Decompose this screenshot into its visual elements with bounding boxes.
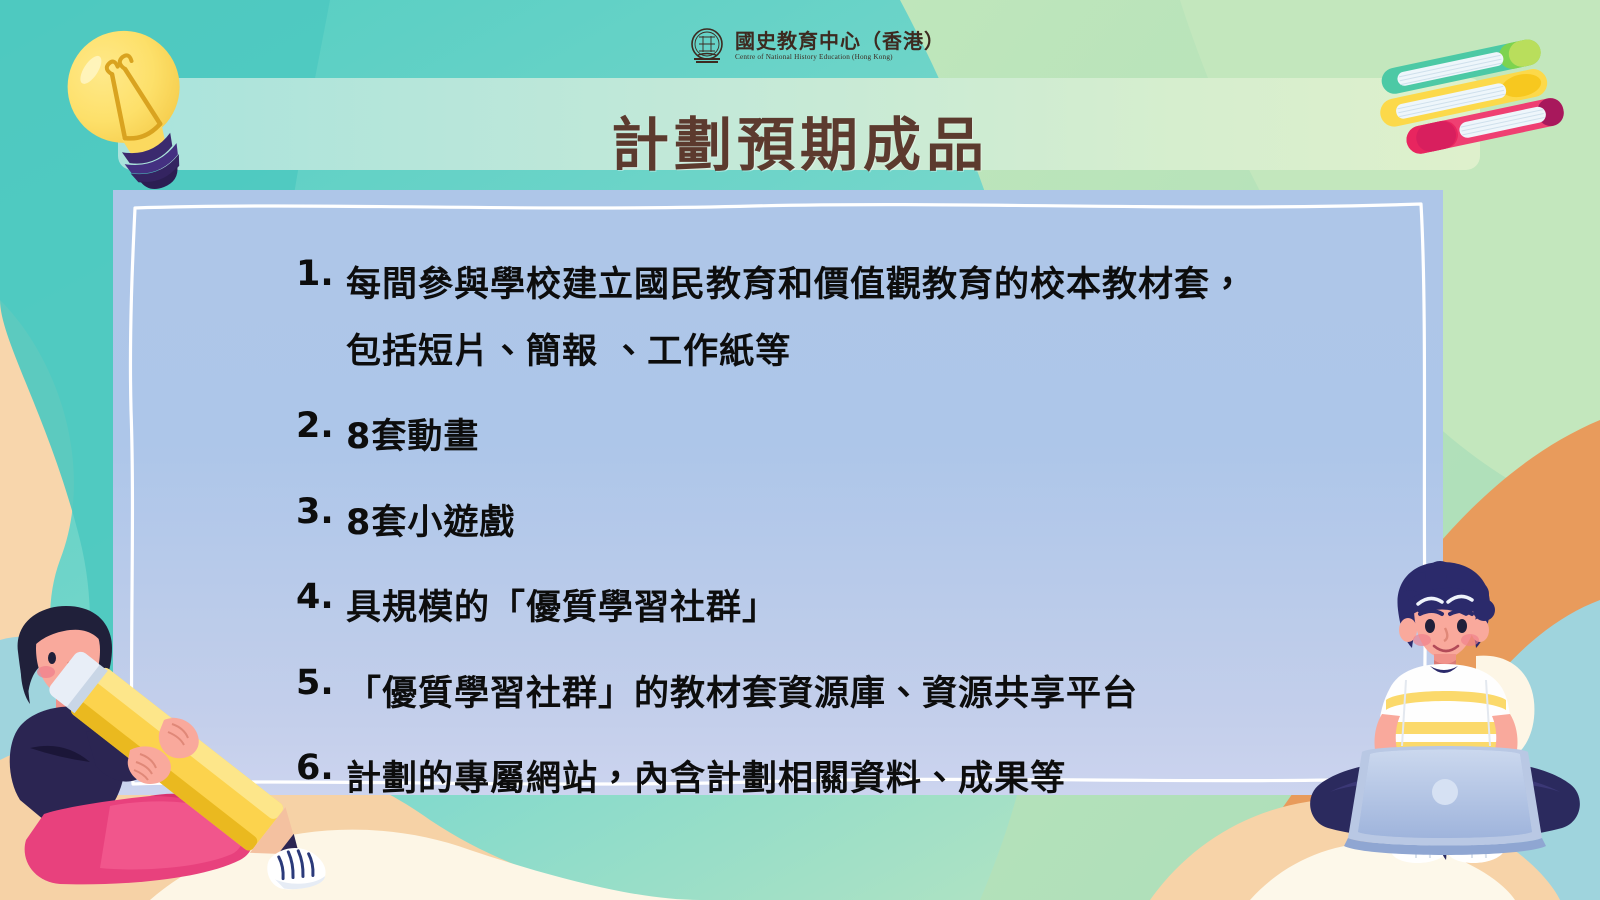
list-item-number: 2.: [296, 404, 346, 449]
boy-with-laptop-illustration: [1290, 548, 1600, 900]
list-item-text: 8套小遊戲: [346, 490, 515, 557]
list-item-text: 8套動畫: [346, 404, 479, 471]
list-item: 4. 具規模的「優質學習社群」: [296, 575, 1396, 642]
girl-with-pencil-illustration: [0, 600, 330, 900]
list-item-line2: 包括短片、簡報 、工作紙等: [346, 319, 1246, 386]
slide-root: 計劃預期成品 國史教育中心（香港） Centre of National His…: [0, 0, 1600, 900]
list-item-line1: 8套動畫: [346, 417, 479, 457]
list-item-number: 3.: [296, 490, 346, 535]
list-item: 6. 計劃的專屬網站，內含計劃相關資料、成果等: [296, 746, 1396, 813]
seal-logo-icon: [686, 25, 728, 67]
list-item-text: 具規模的「優質學習社群」: [346, 575, 778, 642]
logo-name-en: Centre of National History Education (Ho…: [735, 54, 945, 61]
outcomes-list: 1. 每間參與學校建立國民教育和價值觀教育的校本教材套， 包括短片、簡報 、工作…: [296, 252, 1396, 832]
list-item: 2. 8套動畫: [296, 404, 1396, 471]
logo-name-cn: 國史教育中心（香港）: [735, 31, 945, 51]
list-item-number: 1.: [296, 252, 346, 297]
list-item-text: 每間參與學校建立國民教育和價值觀教育的校本教材套， 包括短片、簡報 、工作紙等: [346, 252, 1246, 385]
book-stack-icon: [1358, 38, 1588, 168]
list-item-text: 「優質學習社群」的教材套資源庫、資源共享平台: [346, 661, 1138, 728]
lightbulb-icon: [40, 18, 220, 193]
list-item: 3. 8套小遊戲: [296, 490, 1396, 557]
list-item-line1: 計劃的專屬網站，內含計劃相關資料、成果等: [346, 759, 1066, 799]
list-item-text: 計劃的專屬網站，內含計劃相關資料、成果等: [346, 746, 1066, 813]
list-item: 5. 「優質學習社群」的教材套資源庫、資源共享平台: [296, 661, 1396, 728]
list-item-line1: 具規模的「優質學習社群」: [346, 588, 778, 628]
list-item: 1. 每間參與學校建立國民教育和價值觀教育的校本教材套， 包括短片、簡報 、工作…: [296, 252, 1396, 385]
list-item-line1: 8套小遊戲: [346, 503, 515, 543]
list-item-line1: 每間參與學校建立國民教育和價值觀教育的校本教材套，: [346, 265, 1246, 305]
list-item-line1: 「優質學習社群」的教材套資源庫、資源共享平台: [346, 674, 1138, 714]
organization-logo: 國史教育中心（香港） Centre of National History Ed…: [686, 20, 896, 72]
